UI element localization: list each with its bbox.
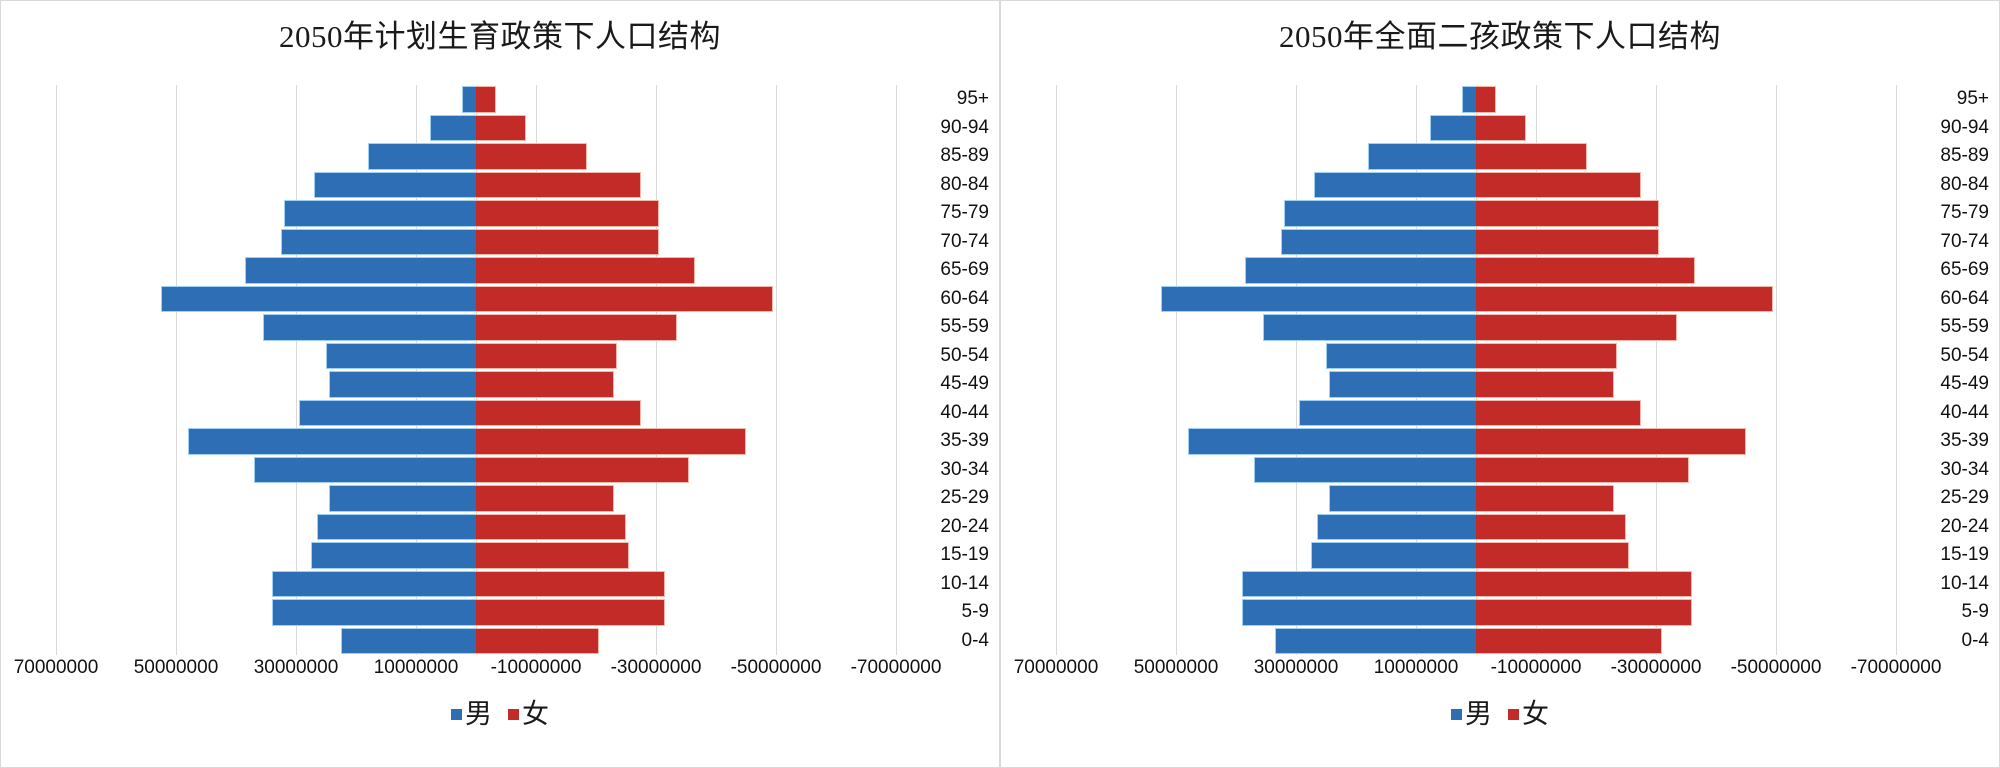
bar-female-20-24 [1476,514,1626,541]
bar-female-70-74 [1476,229,1659,256]
legend-item-female-right: 女 [1508,701,1549,728]
x-axis-right: 70000000500000003000000010000000-1000000… [1056,657,1896,687]
bar-male-75-79 [1284,200,1476,227]
bar-female-45-49 [1476,371,1614,398]
bar-female-20-24 [476,514,626,541]
bar-female-60-64 [476,286,773,313]
chart-title-right: 2050年全面二孩政策下人口结构 [1001,11,1999,56]
bars-left [56,85,896,655]
age-label-90-94: 90-94 [1901,114,1997,143]
bar-female-75-79 [476,200,659,227]
x-tick-label: -30000000 [611,657,702,679]
x-tick-label: -70000000 [851,657,942,679]
pyramid-row [56,370,896,399]
x-tick-label: 70000000 [14,657,99,679]
bar-male-50-54 [1326,343,1476,370]
pyramid-row [56,228,896,257]
legend-item-male-left: 男 [451,701,492,728]
age-label-40-44: 40-44 [901,399,997,428]
bar-male-5-9 [1242,599,1476,626]
age-label-60-64: 60-64 [901,285,997,314]
age-label-70-74: 70-74 [1901,228,1997,257]
bar-male-20-24 [1317,514,1476,541]
bar-male-90-94 [430,115,476,142]
pyramid-row [56,313,896,342]
bar-female-55-59 [476,314,677,341]
pyramid-row [56,199,896,228]
bar-male-35-39 [1188,428,1476,455]
legend-swatch-female-icon [508,709,519,720]
age-label-40-44: 40-44 [1901,399,1997,428]
bar-female-30-34 [1476,457,1689,484]
age-label-60-64: 60-64 [1901,285,1997,314]
bar-female-15-19 [1476,542,1629,569]
age-label-75-79: 75-79 [901,199,997,228]
bar-male-60-64 [1161,286,1476,313]
bar-male-85-89 [1368,143,1476,170]
age-label-85-89: 85-89 [1901,142,1997,171]
pyramid-row [1056,313,1896,342]
bar-male-35-39 [188,428,476,455]
bar-female-35-39 [1476,428,1746,455]
bar-male-10-14 [1242,571,1476,598]
age-label-0-4: 0-4 [901,627,997,656]
age-label-70-74: 70-74 [901,228,997,257]
age-label-65-69: 65-69 [901,256,997,285]
pyramid-row [1056,456,1896,485]
bar-female-15-19 [476,542,629,569]
bar-female-75-79 [1476,200,1659,227]
bar-female-90-94 [476,115,526,142]
age-label-35-39: 35-39 [1901,427,1997,456]
legend-label-male: 男 [1465,701,1492,728]
bar-male-25-29 [329,485,476,512]
legend-swatch-male-icon [451,709,462,720]
bar-male-15-19 [311,542,476,569]
bar-female-30-34 [476,457,689,484]
bar-male-55-59 [1263,314,1476,341]
bar-male-45-49 [1329,371,1476,398]
legend-swatch-female-icon [1508,709,1519,720]
age-label-55-59: 55-59 [1901,313,1997,342]
bar-male-55-59 [263,314,476,341]
bar-female-40-44 [1476,400,1641,427]
bar-male-70-74 [1281,229,1476,256]
gridline [896,85,897,655]
pyramid-row [56,570,896,599]
age-label-50-54: 50-54 [1901,342,1997,371]
bar-male-30-34 [1254,457,1476,484]
bar-male-0-4 [341,628,476,655]
age-group-labels-left: 95+90-9485-8980-8475-7970-7465-6960-6455… [901,85,997,655]
age-label-0-4: 0-4 [1901,627,1997,656]
pyramid-row [1056,399,1896,428]
bar-female-0-4 [1476,628,1662,655]
bar-male-45-49 [329,371,476,398]
bar-female-80-84 [476,172,641,199]
bar-female-55-59 [1476,314,1677,341]
bar-male-20-24 [317,514,476,541]
age-label-20-24: 20-24 [1901,513,1997,542]
pyramid-row [1056,199,1896,228]
pyramid-row [1056,85,1896,114]
age-label-50-54: 50-54 [901,342,997,371]
age-label-95+: 95+ [901,85,997,114]
bar-male-65-69 [1245,257,1476,284]
age-group-labels-right: 95+90-9485-8980-8475-7970-7465-6960-6455… [1901,85,1997,655]
age-label-30-34: 30-34 [1901,456,1997,485]
age-label-15-19: 15-19 [1901,541,1997,570]
chart-panel-family-planning: 2050年计划生育政策下人口结构 95+90-9485-8980-8475-79… [0,0,1000,768]
bar-male-85-89 [368,143,476,170]
x-tick-label: -50000000 [1731,657,1822,679]
pyramid-row [1056,484,1896,513]
legend-label-female: 女 [522,701,549,728]
pyramid-row [56,256,896,285]
pyramid-row [56,627,896,656]
bar-male-10-14 [272,571,476,598]
bar-female-40-44 [476,400,641,427]
x-tick-label: 10000000 [1374,657,1459,679]
bar-female-50-54 [476,343,617,370]
bar-male-25-29 [1329,485,1476,512]
pyramid-row [56,513,896,542]
pyramid-row [1056,541,1896,570]
x-tick-label: 70000000 [1014,657,1099,679]
gridline [1896,85,1897,655]
bar-female-90-94 [1476,115,1526,142]
plot-area-right [1056,85,1896,655]
x-tick-label: 30000000 [254,657,339,679]
bar-female-85-89 [1476,143,1587,170]
bar-female-65-69 [476,257,695,284]
legend-label-female: 女 [1522,701,1549,728]
bar-male-60-64 [161,286,476,313]
bar-male-80-84 [1314,172,1476,199]
age-label-80-84: 80-84 [901,171,997,200]
age-label-30-34: 30-34 [901,456,997,485]
age-label-5-9: 5-9 [1901,598,1997,627]
bar-male-70-74 [281,229,476,256]
bar-female-65-69 [1476,257,1695,284]
pyramid-row [56,342,896,371]
x-tick-label: 30000000 [1254,657,1339,679]
bar-male-0-4 [1275,628,1476,655]
age-label-85-89: 85-89 [901,142,997,171]
pyramid-row [1056,142,1896,171]
age-label-55-59: 55-59 [901,313,997,342]
legend-right: 男 女 [1001,701,1999,728]
pyramid-row [1056,598,1896,627]
legend-swatch-male-icon [1451,709,1462,720]
legend-item-male-right: 男 [1451,701,1492,728]
pyramid-row [1056,342,1896,371]
bar-female-70-74 [476,229,659,256]
age-label-25-29: 25-29 [1901,484,1997,513]
age-label-65-69: 65-69 [1901,256,1997,285]
bar-female-0-4 [476,628,599,655]
pyramid-row [1056,114,1896,143]
bar-male-30-34 [254,457,476,484]
bar-male-65-69 [245,257,476,284]
bar-female-35-39 [476,428,746,455]
bar-male-5-9 [272,599,476,626]
x-tick-label: -10000000 [491,657,582,679]
bar-female-10-14 [476,571,665,598]
pyramid-row [56,285,896,314]
legend-left: 男 女 [1,701,999,728]
pyramid-row [1056,171,1896,200]
x-tick-label: 50000000 [1134,657,1219,679]
age-label-10-14: 10-14 [1901,570,1997,599]
bar-female-25-29 [1476,485,1614,512]
bar-male-95+ [462,86,476,113]
x-tick-label: 50000000 [134,657,219,679]
age-label-35-39: 35-39 [901,427,997,456]
pyramid-row [1056,256,1896,285]
pyramid-row [56,598,896,627]
bar-female-60-64 [1476,286,1773,313]
pyramid-row [56,142,896,171]
age-label-75-79: 75-79 [1901,199,1997,228]
pyramid-chart-pair: 2050年计划生育政策下人口结构 95+90-9485-8980-8475-79… [0,0,2000,768]
chart-panel-two-child: 2050年全面二孩政策下人口结构 95+90-9485-8980-8475-79… [1000,0,2000,768]
pyramid-row [1056,627,1896,656]
x-axis-left: 70000000500000003000000010000000-1000000… [56,657,896,687]
pyramid-row [1056,285,1896,314]
age-label-25-29: 25-29 [901,484,997,513]
bar-female-80-84 [1476,172,1641,199]
bar-female-25-29 [476,485,614,512]
pyramid-row [1056,228,1896,257]
bar-male-15-19 [1311,542,1476,569]
age-label-20-24: 20-24 [901,513,997,542]
pyramid-row [56,456,896,485]
age-label-10-14: 10-14 [901,570,997,599]
bars-right [1056,85,1896,655]
x-tick-label: -50000000 [731,657,822,679]
age-label-5-9: 5-9 [901,598,997,627]
bar-female-85-89 [476,143,587,170]
bar-male-90-94 [1430,115,1476,142]
bar-male-50-54 [326,343,476,370]
pyramid-row [56,484,896,513]
bar-female-5-9 [1476,599,1692,626]
legend-label-male: 男 [465,701,492,728]
bar-female-95+ [476,86,496,113]
bar-female-10-14 [1476,571,1692,598]
age-label-95+: 95+ [1901,85,1997,114]
chart-title-left: 2050年计划生育政策下人口结构 [1,11,999,56]
pyramid-row [56,541,896,570]
age-label-45-49: 45-49 [1901,370,1997,399]
pyramid-row [56,427,896,456]
x-tick-label: -30000000 [1611,657,1702,679]
pyramid-row [1056,370,1896,399]
x-tick-label: -70000000 [1851,657,1942,679]
age-label-80-84: 80-84 [1901,171,1997,200]
bar-male-95+ [1462,86,1476,113]
pyramid-row [56,399,896,428]
x-tick-label: 10000000 [374,657,459,679]
bar-male-40-44 [1299,400,1476,427]
pyramid-row [56,85,896,114]
bar-male-40-44 [299,400,476,427]
age-label-15-19: 15-19 [901,541,997,570]
bar-female-50-54 [1476,343,1617,370]
legend-item-female-left: 女 [508,701,549,728]
bar-male-75-79 [284,200,476,227]
x-tick-label: -10000000 [1491,657,1582,679]
bar-female-5-9 [476,599,665,626]
pyramid-row [1056,427,1896,456]
age-label-45-49: 45-49 [901,370,997,399]
bar-female-45-49 [476,371,614,398]
age-label-90-94: 90-94 [901,114,997,143]
pyramid-row [56,171,896,200]
plot-area-left [56,85,896,655]
pyramid-row [1056,513,1896,542]
pyramid-row [1056,570,1896,599]
pyramid-row [56,114,896,143]
bar-female-95+ [1476,86,1496,113]
bar-male-80-84 [314,172,476,199]
